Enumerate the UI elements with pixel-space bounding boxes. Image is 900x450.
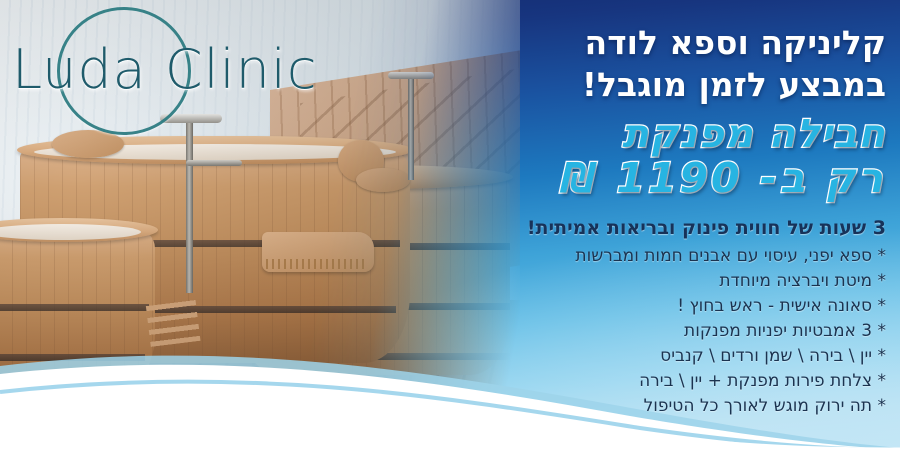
spa-promo-banner: Luda Clinic קליניקה וספא לודה במבצע לזמן… [0,0,900,450]
bottom-wave-decoration [0,330,900,450]
logo-text: Luda Clinic [12,38,342,101]
list-item: * מיטת ויברציה מיוחדת [406,269,886,294]
offer-lead: 3 שעות של חווית פינוק ובריאות אמיתית! [406,216,886,242]
list-item: * סאונה אישית - ראש בחוץ ! [406,294,886,319]
deal-title: חבילה מפנקת [406,114,886,156]
headline-line-2: במבצע לזמן מוגבל! [406,64,886,106]
logo: Luda Clinic [12,4,342,129]
deal-price: רק ב- 1190 ₪ [406,156,886,200]
list-item: * ספא יפני, עיסוי עם אבנים חמות ומברשות [406,244,886,269]
headline-line-1: קליניקה וספא לודה [406,22,886,64]
headline: קליניקה וספא לודה במבצע לזמן מוגבל! [406,22,886,106]
deal-block: חבילה מפנקת רק ב- 1190 ₪ [406,114,886,200]
